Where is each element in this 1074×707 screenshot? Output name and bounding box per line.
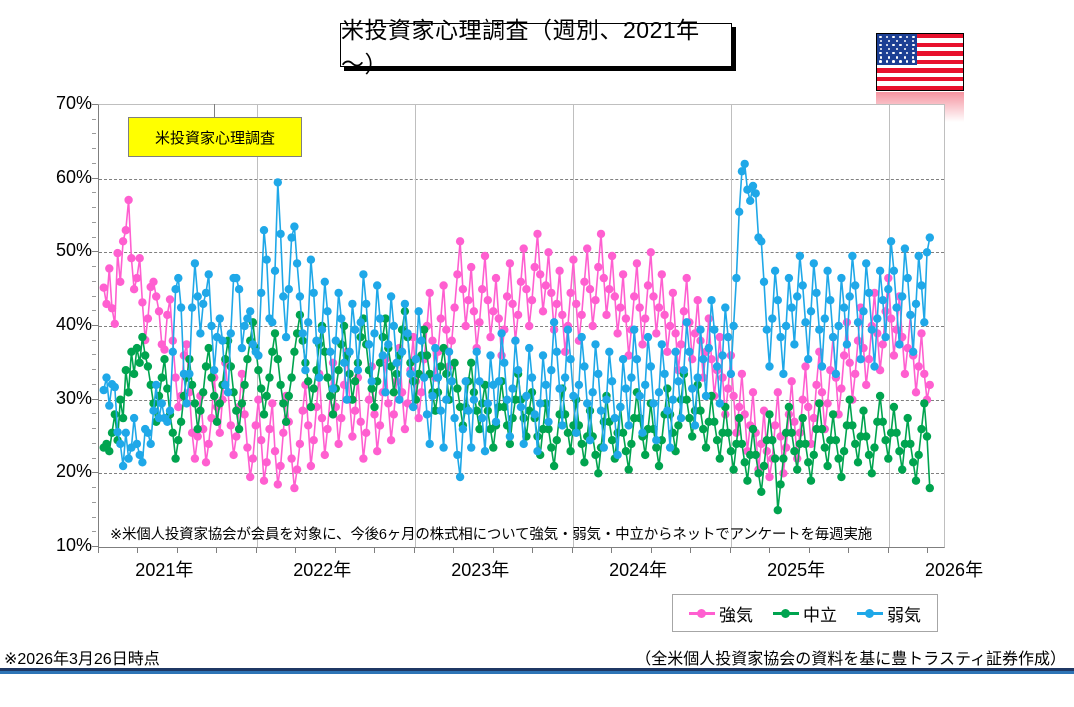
- y-axis-tick: [92, 428, 96, 429]
- y-axis-tick: [92, 310, 96, 311]
- y-axis-tick: [92, 133, 96, 134]
- plot-note: ※米個人投資家協会が会員を対象に、今後6ヶ月の株式相について強気・弱気・中立から…: [110, 523, 872, 544]
- x-axis-tick-label: 2021年: [135, 556, 193, 582]
- y-axis-tick: [92, 487, 96, 488]
- y-axis-tick: [92, 119, 96, 120]
- callout-box: 米投資家心理調査: [128, 117, 302, 157]
- footer-asof: ※2026年3月26日時点: [4, 645, 160, 669]
- y-axis-tick: [92, 163, 96, 164]
- legend-label-bullish: 強気: [719, 601, 753, 626]
- x-axis-tick: [453, 548, 454, 553]
- legend-item-neutral[interactable]: 中立: [773, 601, 837, 626]
- y-axis-tick-label: 50%: [34, 240, 92, 261]
- x-axis-tick: [532, 548, 533, 553]
- x-axis-tick: [98, 548, 99, 553]
- footer-source: （全米個人投資家協会の資料を基に豊トラスティ証券作成）: [635, 645, 1066, 669]
- legend-label-bearish: 弱気: [887, 601, 921, 626]
- y-axis-tick-label: 30%: [34, 388, 92, 409]
- legend-item-bearish[interactable]: 弱気: [857, 601, 921, 626]
- x-axis-tick: [335, 548, 336, 553]
- footer-rule: [0, 668, 1074, 674]
- y-axis-tick: [92, 369, 96, 370]
- x-axis-tick-label: 2026年: [925, 556, 983, 582]
- x-axis-tick: [651, 548, 652, 553]
- y-axis-tick: [92, 192, 96, 193]
- legend-label-neutral: 中立: [803, 601, 837, 626]
- x-axis-tick: [177, 548, 178, 553]
- x-axis-tick-label: 2023年: [451, 556, 509, 582]
- y-axis-tick: [92, 207, 96, 208]
- x-axis-tick: [611, 548, 612, 553]
- y-axis-tick-label: 40%: [34, 314, 92, 335]
- y-axis-tick: [92, 148, 96, 149]
- y-axis-labels: 10%20%30%40%50%60%70%: [30, 104, 92, 548]
- x-axis-tick: [572, 548, 573, 553]
- legend-marker-bearish-icon: [857, 607, 883, 619]
- x-axis-tick: [374, 548, 375, 553]
- y-axis-tick-label: 10%: [34, 535, 92, 556]
- x-axis-tick: [414, 548, 415, 553]
- chart: 10%20%30%40%50%60%70% 2021年2022年2023年202…: [0, 0, 1074, 640]
- y-axis-tick: [92, 531, 96, 532]
- plot-area: [98, 104, 945, 548]
- x-axis-tick: [809, 548, 810, 553]
- x-axis-tick: [493, 548, 494, 553]
- x-axis-tick-label: 2024年: [609, 556, 667, 582]
- x-axis-tick: [888, 548, 889, 553]
- x-axis-tick: [730, 548, 731, 553]
- series-lines: [99, 105, 944, 547]
- legend-marker-bullish-icon: [689, 607, 715, 619]
- x-axis-tick: [216, 548, 217, 553]
- y-axis-tick-label: 20%: [34, 461, 92, 482]
- legend-marker-neutral-icon: [773, 607, 799, 619]
- y-axis-tick: [92, 413, 96, 414]
- x-axis-tick: [927, 548, 928, 553]
- x-axis-tick-label: 2025年: [767, 556, 825, 582]
- chart-legend: 強気 中立 弱気: [672, 594, 938, 632]
- y-axis-tick: [92, 443, 96, 444]
- legend-item-bullish[interactable]: 強気: [689, 601, 753, 626]
- x-axis-tick: [769, 548, 770, 553]
- y-axis-tick: [92, 266, 96, 267]
- y-axis-tick: [92, 281, 96, 282]
- y-axis-tick: [92, 384, 96, 385]
- y-axis-tick-label: 60%: [34, 167, 92, 188]
- x-axis-tick: [137, 548, 138, 553]
- x-axis-tick-label: 2022年: [293, 556, 351, 582]
- x-axis-tick: [848, 548, 849, 553]
- y-axis-tick: [92, 296, 96, 297]
- x-axis-tick: [295, 548, 296, 553]
- y-axis-tick: [92, 340, 96, 341]
- y-axis-tick: [92, 237, 96, 238]
- callout-leader-line: [214, 104, 215, 118]
- x-axis-tick: [690, 548, 691, 553]
- y-axis-tick: [92, 502, 96, 503]
- x-axis-tick: [256, 548, 257, 553]
- y-axis-tick: [92, 354, 96, 355]
- y-axis-tick: [92, 458, 96, 459]
- y-axis-tick: [92, 517, 96, 518]
- y-axis-tick: [92, 222, 96, 223]
- y-axis-tick-label: 70%: [34, 93, 92, 114]
